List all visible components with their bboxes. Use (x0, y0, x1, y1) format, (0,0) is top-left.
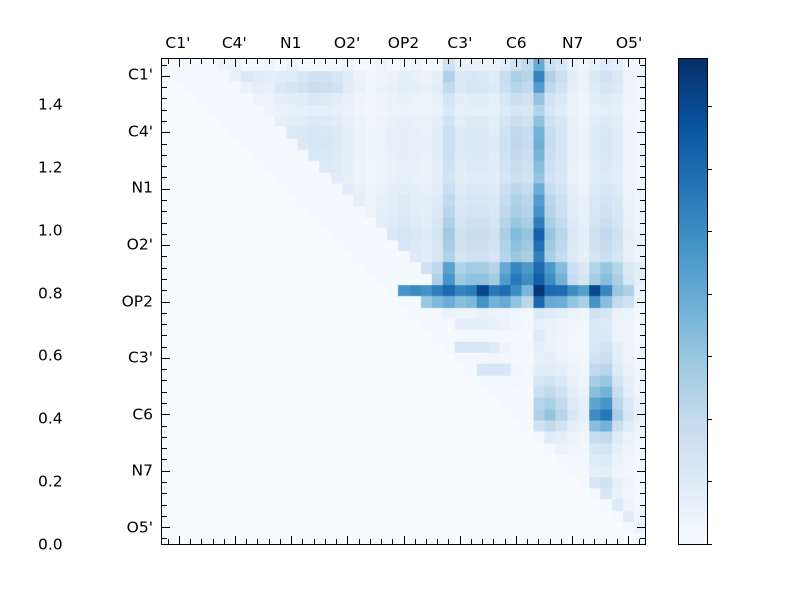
xaxis-tick-top (493, 59, 494, 64)
yaxis-tick-right (640, 347, 645, 348)
xaxis-tick-top (404, 59, 405, 67)
yaxis-tick-right (640, 256, 645, 257)
yaxis-tick-left (162, 426, 167, 427)
yaxis-tick-right (637, 132, 645, 133)
xaxis-tick-top (639, 59, 640, 64)
yaxis-tick-left (162, 155, 167, 156)
yaxis-tick-left (162, 76, 170, 77)
yaxis-label-C4p: C4' (99, 124, 153, 140)
xaxis-tick-top (471, 59, 472, 64)
yaxis-tick-left (162, 189, 170, 190)
xaxis-tick-bottom (325, 539, 326, 544)
xaxis-tick-top (224, 59, 225, 64)
xaxis-tick-top (235, 59, 236, 67)
yaxis-tick-right (640, 166, 645, 167)
yaxis-tick-right (640, 98, 645, 99)
yaxis-tick-left (162, 392, 167, 393)
xaxis-tick-bottom (594, 539, 595, 544)
yaxis-tick-right (637, 302, 645, 303)
xaxis-tick-top (269, 59, 270, 64)
xaxis-tick-top (561, 59, 562, 64)
xaxis-tick-top (448, 59, 449, 64)
yaxis-label-O2p: O2' (99, 237, 153, 253)
xaxis-label-C3p: C3' (447, 36, 472, 52)
yaxis-tick-left (162, 493, 167, 494)
yaxis-tick-right (640, 121, 645, 122)
yaxis-tick-right (640, 505, 645, 506)
xaxis-label-C6: C6 (506, 36, 527, 52)
yaxis-tick-left (162, 369, 167, 370)
xaxis-tick-top (426, 59, 427, 64)
xaxis-tick-top (617, 59, 618, 64)
yaxis-tick-left (162, 121, 167, 122)
yaxis-tick-left (162, 166, 167, 167)
yaxis-tick-right (637, 414, 645, 415)
yaxis-tick-right (640, 211, 645, 212)
yaxis-tick-left (162, 144, 167, 145)
colorbar-gradient (679, 59, 707, 544)
yaxis-tick-right (637, 189, 645, 190)
xaxis-tick-bottom (235, 536, 236, 544)
xaxis-tick-top (415, 59, 416, 64)
xaxis-tick-top (550, 59, 551, 64)
xaxis-tick-top (190, 59, 191, 64)
colorbar-label-1.0: 1.0 (38, 223, 63, 239)
yaxis-tick-left (162, 256, 167, 257)
yaxis-tick-right (640, 437, 645, 438)
xaxis-tick-top (302, 59, 303, 64)
yaxis-tick-left (162, 223, 167, 224)
yaxis-tick-right (640, 177, 645, 178)
xaxis-tick-bottom (302, 539, 303, 544)
xaxis-tick-top (291, 59, 292, 67)
yaxis-label-N1: N1 (99, 180, 153, 196)
xaxis-tick-bottom (201, 539, 202, 544)
xaxis-tick-bottom (527, 539, 528, 544)
yaxis-tick-right (640, 482, 645, 483)
xaxis-tick-top (246, 59, 247, 64)
yaxis-tick-right (640, 87, 645, 88)
yaxis-tick-right (640, 65, 645, 66)
yaxis-tick-left (162, 302, 170, 303)
yaxis-tick-right (640, 144, 645, 145)
xaxis-tick-top (325, 59, 326, 64)
yaxis-label-O5p: O5' (99, 520, 153, 536)
xaxis-tick-top (606, 59, 607, 64)
xaxis-tick-top (359, 59, 360, 64)
yaxis-tick-right (640, 313, 645, 314)
heatmap-axes (161, 58, 646, 545)
xaxis-tick-bottom (606, 539, 607, 544)
xaxis-tick-top (213, 59, 214, 64)
xaxis-tick-bottom (516, 536, 517, 544)
xaxis-label-C4p: C4' (222, 36, 247, 52)
colorbar-label-1.2: 1.2 (38, 160, 63, 176)
xaxis-tick-bottom (628, 536, 629, 544)
xaxis-tick-bottom (482, 539, 483, 544)
yaxis-tick-left (162, 538, 167, 539)
xaxis-tick-bottom (314, 539, 315, 544)
yaxis-tick-right (640, 448, 645, 449)
xaxis-tick-top (516, 59, 517, 67)
yaxis-tick-right (637, 245, 645, 246)
yaxis-tick-left (162, 505, 167, 506)
yaxis-tick-left (162, 290, 167, 291)
xaxis-tick-bottom (370, 539, 371, 544)
colorbar-tick (707, 356, 712, 357)
yaxis-tick-left (162, 527, 170, 528)
xaxis-tick-bottom (190, 539, 191, 544)
xaxis-tick-bottom (426, 539, 427, 544)
xaxis-tick-top (527, 59, 528, 64)
xaxis-tick-top (628, 59, 629, 67)
xaxis-tick-top (460, 59, 461, 67)
xaxis-tick-bottom (168, 539, 169, 544)
yaxis-tick-left (162, 380, 167, 381)
yaxis-tick-right (640, 380, 645, 381)
yaxis-tick-left (162, 403, 167, 404)
xaxis-tick-bottom (404, 536, 405, 544)
yaxis-tick-left (162, 516, 167, 517)
colorbar-tick (707, 169, 712, 170)
xaxis-tick-bottom (291, 536, 292, 544)
colorbar-label-0.6: 0.6 (38, 349, 63, 365)
yaxis-label-C6: C6 (99, 407, 153, 423)
yaxis-tick-left (162, 177, 167, 178)
yaxis-tick-right (637, 76, 645, 77)
xaxis-tick-bottom (347, 536, 348, 544)
yaxis-tick-right (640, 426, 645, 427)
yaxis-label-OP2: OP2 (99, 294, 153, 310)
xaxis-tick-top (347, 59, 348, 67)
yaxis-tick-right (637, 358, 645, 359)
yaxis-tick-right (640, 538, 645, 539)
figure-canvas: C1'C4'N1O2'OP2C3'C6N7O5' C1'C4'N1O2'OP2C… (0, 0, 800, 600)
yaxis-tick-left (162, 358, 170, 359)
xaxis-tick-bottom (392, 539, 393, 544)
xaxis-tick-bottom (257, 539, 258, 544)
yaxis-label-C1p: C1' (99, 67, 153, 83)
yaxis-tick-right (640, 290, 645, 291)
xaxis-label-O5p: O5' (616, 36, 642, 52)
yaxis-tick-right (640, 403, 645, 404)
yaxis-tick-left (162, 98, 167, 99)
xaxis-tick-bottom (538, 539, 539, 544)
yaxis-tick-right (640, 493, 645, 494)
yaxis-tick-right (640, 155, 645, 156)
xaxis-label-N7: N7 (562, 36, 583, 52)
heatmap-image (162, 59, 645, 544)
xaxis-tick-bottom (550, 539, 551, 544)
xaxis-tick-bottom (381, 539, 382, 544)
xaxis-tick-bottom (224, 539, 225, 544)
xaxis-tick-top (179, 59, 180, 67)
xaxis-tick-bottom (246, 539, 247, 544)
yaxis-tick-left (162, 448, 167, 449)
xaxis-tick-bottom (493, 539, 494, 544)
yaxis-tick-right (640, 324, 645, 325)
xaxis-tick-top (381, 59, 382, 64)
xaxis-tick-bottom (561, 539, 562, 544)
xaxis-tick-bottom (213, 539, 214, 544)
yaxis-tick-right (640, 459, 645, 460)
colorbar (678, 58, 708, 545)
xaxis-tick-top (572, 59, 573, 67)
yaxis-tick-right (640, 335, 645, 336)
xaxis-label-OP2: OP2 (388, 36, 419, 52)
xaxis-tick-top (280, 59, 281, 64)
yaxis-tick-left (162, 110, 167, 111)
yaxis-tick-left (162, 347, 167, 348)
yaxis-tick-left (162, 211, 167, 212)
yaxis-tick-right (640, 268, 645, 269)
xaxis-tick-top (257, 59, 258, 64)
xaxis-tick-top (392, 59, 393, 64)
yaxis-tick-right (640, 110, 645, 111)
xaxis-tick-bottom (415, 539, 416, 544)
xaxis-tick-bottom (179, 536, 180, 544)
yaxis-tick-left (162, 234, 167, 235)
yaxis-tick-left (162, 245, 170, 246)
xaxis-tick-bottom (448, 539, 449, 544)
yaxis-tick-left (162, 87, 167, 88)
yaxis-tick-left (162, 335, 167, 336)
colorbar-tick (707, 294, 712, 295)
yaxis-tick-right (640, 200, 645, 201)
colorbar-tick (707, 106, 712, 107)
yaxis-tick-left (162, 471, 170, 472)
colorbar-tick (707, 481, 712, 482)
xaxis-tick-bottom (639, 539, 640, 544)
yaxis-label-N7: N7 (99, 464, 153, 480)
yaxis-tick-left (162, 132, 170, 133)
xaxis-tick-bottom (460, 536, 461, 544)
yaxis-tick-left (162, 324, 167, 325)
yaxis-tick-right (640, 279, 645, 280)
xaxis-tick-bottom (437, 539, 438, 544)
colorbar-label-0.0: 0.0 (38, 537, 63, 553)
xaxis-tick-top (314, 59, 315, 64)
colorbar-label-1.4: 1.4 (38, 97, 63, 113)
yaxis-tick-right (640, 234, 645, 235)
yaxis-label-C3p: C3' (99, 350, 153, 366)
yaxis-tick-right (640, 223, 645, 224)
xaxis-tick-top (201, 59, 202, 64)
xaxis-tick-bottom (280, 539, 281, 544)
xaxis-tick-top (336, 59, 337, 64)
yaxis-tick-left (162, 200, 167, 201)
xaxis-tick-bottom (583, 539, 584, 544)
xaxis-tick-bottom (617, 539, 618, 544)
colorbar-label-0.8: 0.8 (38, 286, 63, 302)
colorbar-tick (707, 544, 712, 545)
colorbar-tick (707, 231, 712, 232)
yaxis-tick-right (640, 369, 645, 370)
xaxis-tick-top (482, 59, 483, 64)
xaxis-tick-bottom (471, 539, 472, 544)
xaxis-tick-top (168, 59, 169, 64)
yaxis-tick-left (162, 313, 167, 314)
xaxis-tick-top (437, 59, 438, 64)
colorbar-tick (707, 419, 712, 420)
xaxis-tick-bottom (269, 539, 270, 544)
colorbar-label-0.2: 0.2 (38, 474, 63, 490)
xaxis-tick-bottom (505, 539, 506, 544)
xaxis-label-N1: N1 (280, 36, 301, 52)
xaxis-label-C1p: C1' (165, 36, 190, 52)
xaxis-tick-top (538, 59, 539, 64)
yaxis-tick-left (162, 279, 167, 280)
xaxis-tick-bottom (336, 539, 337, 544)
yaxis-tick-left (162, 414, 170, 415)
colorbar-label-0.4: 0.4 (38, 412, 63, 428)
xaxis-tick-top (505, 59, 506, 64)
yaxis-tick-left (162, 268, 167, 269)
xaxis-tick-top (583, 59, 584, 64)
yaxis-tick-right (637, 527, 645, 528)
yaxis-tick-left (162, 459, 167, 460)
xaxis-label-O2p: O2' (334, 36, 360, 52)
xaxis-tick-top (370, 59, 371, 64)
yaxis-tick-left (162, 482, 167, 483)
xaxis-tick-top (594, 59, 595, 64)
yaxis-tick-right (640, 392, 645, 393)
yaxis-tick-right (637, 471, 645, 472)
xaxis-tick-bottom (572, 536, 573, 544)
yaxis-tick-left (162, 437, 167, 438)
yaxis-tick-left (162, 65, 167, 66)
yaxis-tick-right (640, 516, 645, 517)
xaxis-tick-bottom (359, 539, 360, 544)
